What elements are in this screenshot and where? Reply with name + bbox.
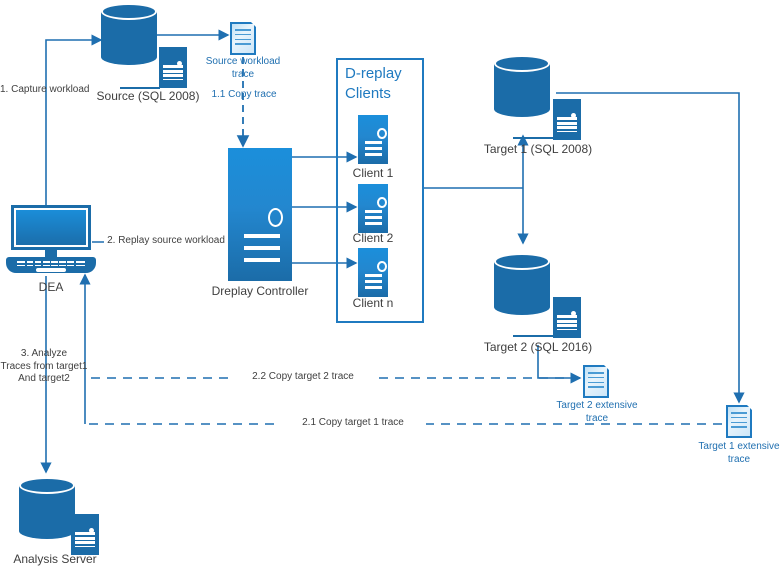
client-n-label: Client n xyxy=(340,296,406,311)
target1-trace-label: Target 1 extensive trace xyxy=(687,441,780,466)
wire-capture-workload xyxy=(46,40,101,210)
target1-db-label: Target 1 (SQL 2008) xyxy=(470,142,606,157)
analyze-traces-edge-label: 3. Analyze Traces from target1 And targe… xyxy=(0,348,88,386)
target2-trace-label: Target 2 extensive trace xyxy=(545,400,649,425)
dea-desktop-computer-icon xyxy=(11,205,91,277)
client-1-gradient-server-icon xyxy=(358,115,388,164)
source-trace-label: Source workload trace xyxy=(193,56,293,81)
source-db-label: Source (SQL 2008) xyxy=(88,89,208,104)
dea-label: DEA xyxy=(16,280,86,295)
copy-target2-trace-edge-label: 2.2 Copy target 2 trace xyxy=(230,371,376,384)
diagram-canvas: Source (SQL 2008) Source workload trace … xyxy=(0,0,780,572)
client-2-gradient-server-icon xyxy=(358,184,388,233)
target2-connector-stub xyxy=(513,335,553,337)
client-n-gradient-server-icon xyxy=(358,248,388,297)
target2-db-cylinder-icon xyxy=(494,253,550,315)
analysis-server-label: Analysis Server xyxy=(0,552,110,567)
target2-server-rack-icon xyxy=(553,297,581,338)
source-db-cylinder-icon xyxy=(101,3,157,65)
target1-server-rack-icon xyxy=(553,99,581,140)
target2-db-label: Target 2 (SQL 2016) xyxy=(470,340,606,355)
target1-trace-document-icon xyxy=(726,405,752,438)
replay-source-workload-edge-label: 2. Replay source workload xyxy=(104,235,228,248)
client-2-label: Client 2 xyxy=(340,231,406,246)
capture-workload-edge-label: 1. Capture workload xyxy=(0,84,104,97)
dreplay-controller-label: Dreplay Controller xyxy=(200,284,320,299)
source-trace-document-icon xyxy=(230,22,256,55)
source-server-rack-icon xyxy=(159,47,187,88)
dreplay-controller-gradient-server-icon xyxy=(228,148,292,281)
target2-trace-document-icon xyxy=(583,365,609,398)
target1-db-cylinder-icon xyxy=(494,55,550,117)
wire-target1-to-trace xyxy=(556,93,739,402)
copy-trace-edge-label: 1.1 Copy trace xyxy=(198,89,290,102)
analysis-connector-stub xyxy=(33,532,73,534)
copy-target1-trace-edge-label: 2.1 Copy target 1 trace xyxy=(280,417,426,430)
client-1-label: Client 1 xyxy=(340,166,406,181)
analysis-server-rack-icon xyxy=(71,514,99,555)
dreplay-clients-group-title: D-replay Clients xyxy=(345,64,425,103)
target1-connector-stub xyxy=(513,137,553,139)
analysis-db-cylinder-icon xyxy=(19,477,75,539)
